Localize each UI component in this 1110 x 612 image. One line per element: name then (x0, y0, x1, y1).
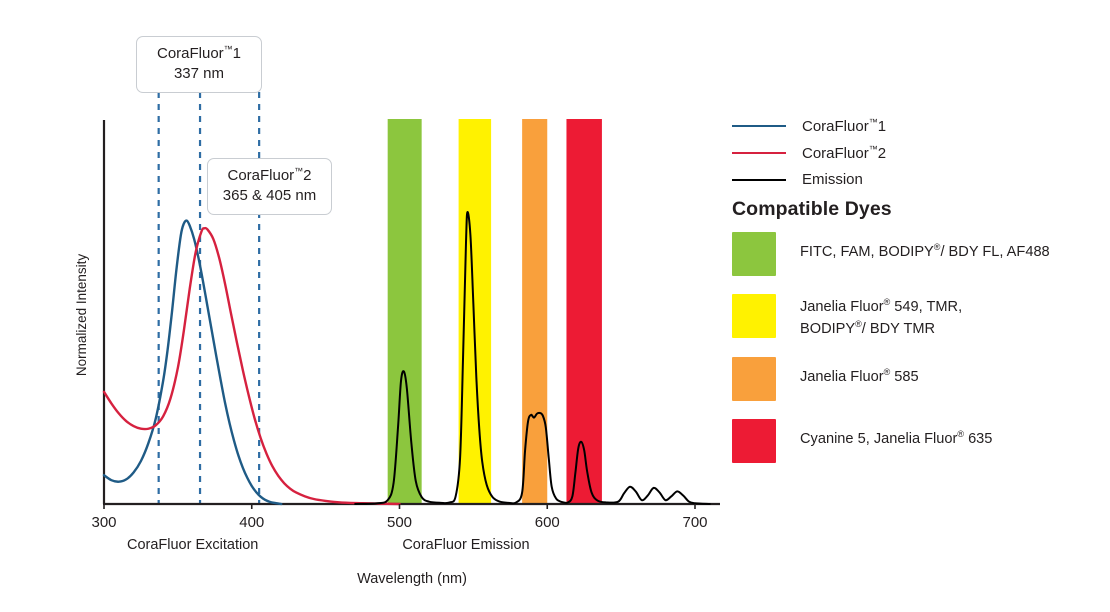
x-tick-label-400: 400 (239, 514, 264, 531)
legend-item-2[interactable]: Emission (732, 166, 1102, 193)
legend-item-1[interactable]: CoraFluor™2 (732, 139, 1102, 166)
dye-item-label: Cyanine 5, Janelia Fluor® 635 (800, 419, 992, 450)
compatible-dyes-title: Compatible Dyes (732, 198, 892, 221)
callout-line-1: CoraFluor™2 (222, 166, 317, 186)
axis-sections: CoraFluor ExcitationCoraFluor Emission (127, 537, 530, 553)
legend-item-label: CoraFluor™2 (802, 144, 886, 162)
dye-color-swatch (732, 294, 776, 338)
x-tick-label-300: 300 (91, 514, 116, 531)
callout-line-2: 365 & 405 nm (222, 186, 317, 206)
dye-color-swatch (732, 357, 776, 401)
dye-item-label: FITC, FAM, BODIPY®/ BDY FL, AF488 (800, 232, 1050, 263)
callout-corafluor-2: CoraFluor™2365 & 405 nm (207, 158, 332, 215)
dye-item-2[interactable]: Janelia Fluor® 585 (732, 357, 1110, 401)
legend-line-swatch (732, 125, 786, 127)
dye-item-label: Janelia Fluor® 585 (800, 357, 919, 388)
x-axis-title: Wavelength (nm) (357, 571, 467, 587)
chart-legend: CoraFluor™1CoraFluor™2Emission (732, 112, 1102, 193)
dye-color-swatch (732, 232, 776, 276)
callout-corafluor-1: CoraFluor™1337 nm (136, 36, 262, 93)
x-tick-label-600: 600 (535, 514, 560, 531)
right-panel: CoraFluor™1CoraFluor™2Emission Compatibl… (732, 0, 1110, 612)
axis-section-label-0: CoraFluor Excitation (127, 537, 258, 553)
callout-line-1: CoraFluor™1 (151, 44, 247, 64)
dye-item-label: Janelia Fluor® 549, TMR,BODIPY®/ BDY TMR (800, 294, 962, 339)
x-tick-label-500: 500 (387, 514, 412, 531)
legend-line-swatch (732, 152, 786, 154)
spectra-chart: 300400500600700CoraFluor ExcitationCoraF… (0, 0, 740, 612)
x-axis-ticks: 300400500600700 (91, 504, 707, 531)
legend-item-0[interactable]: CoraFluor™1 (732, 112, 1102, 139)
legend-line-swatch (732, 179, 786, 181)
y-axis-title: Normalized Intensity (74, 254, 89, 377)
dye-item-1[interactable]: Janelia Fluor® 549, TMR,BODIPY®/ BDY TMR (732, 294, 1110, 339)
axis-section-label-1: CoraFluor Emission (402, 537, 529, 553)
dye-item-3[interactable]: Cyanine 5, Janelia Fluor® 635 (732, 419, 1110, 463)
compatible-dyes-list: FITC, FAM, BODIPY®/ BDY FL, AF488Janelia… (732, 232, 1110, 481)
x-tick-label-700: 700 (682, 514, 707, 531)
green-band (388, 119, 422, 504)
curve-series-1 (104, 228, 400, 504)
callout-line-2: 337 nm (151, 64, 247, 84)
chart-plot-area: 300400500600700CoraFluor ExcitationCoraF… (0, 0, 740, 612)
dye-item-0[interactable]: FITC, FAM, BODIPY®/ BDY FL, AF488 (732, 232, 1110, 276)
emission-bands (388, 119, 602, 504)
legend-item-label: CoraFluor™1 (802, 117, 886, 135)
dye-color-swatch (732, 419, 776, 463)
legend-item-label: Emission (802, 171, 863, 188)
